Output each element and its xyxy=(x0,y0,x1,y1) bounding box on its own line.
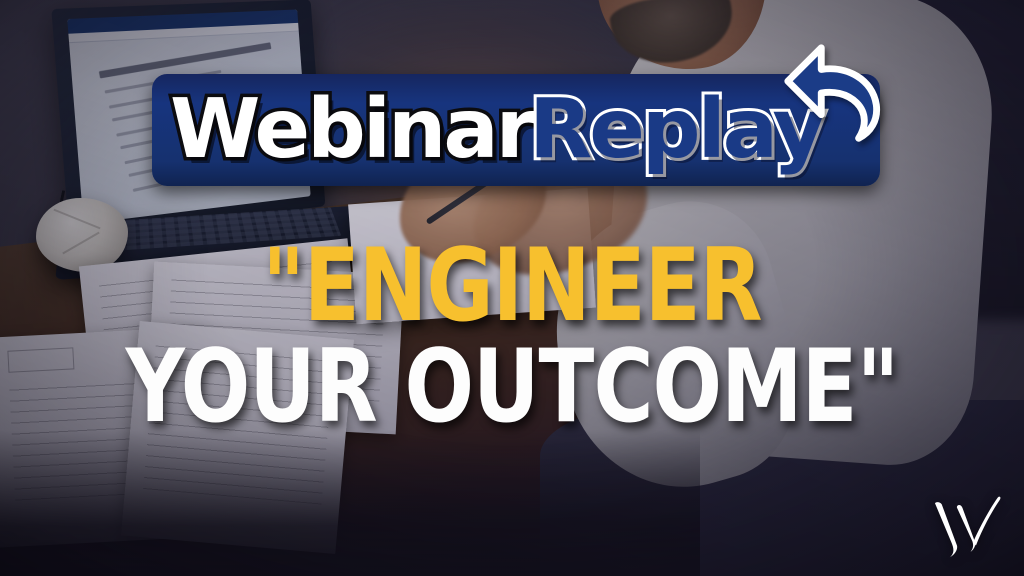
headline-line-1: "ENGINEER xyxy=(51,238,973,333)
headline-block: "ENGINEER YOUR OUTCOME" xyxy=(0,238,1024,434)
watermark-w-logo xyxy=(930,486,1002,562)
banner-text-group: Webinar Replay xyxy=(152,74,880,186)
replay-undo-arrow-icon xyxy=(778,36,896,154)
banner-word-webinar: Webinar xyxy=(170,89,533,171)
webinar-replay-banner: Webinar Replay xyxy=(152,74,880,186)
thumbnail-canvas: Webinar Replay "ENGINEER YOUR OUTCOME" xyxy=(0,0,1024,576)
headline-line-2: YOUR OUTCOME" xyxy=(51,339,973,434)
